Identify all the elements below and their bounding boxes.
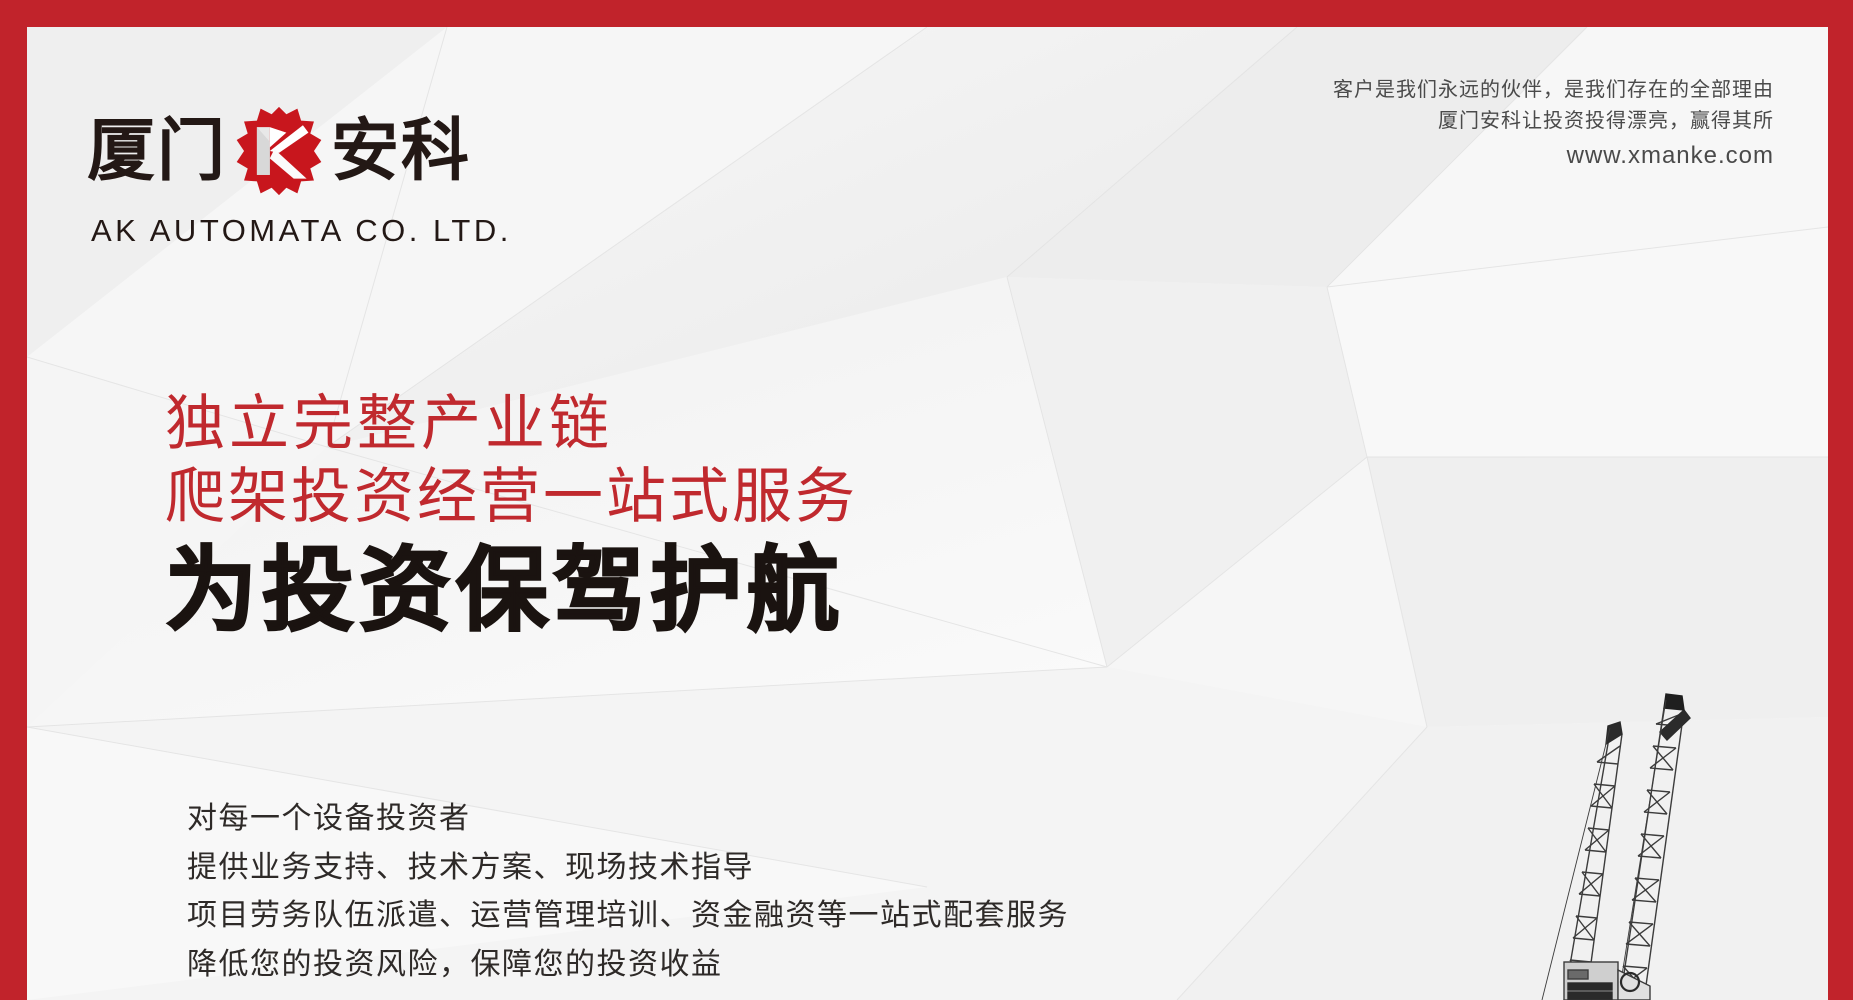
body-line: 对每一个设备投资者: [187, 795, 1069, 844]
frame-left-border: [0, 0, 27, 1000]
k-octagon-logo-icon: [233, 105, 325, 197]
body-line: 降低您的投资风险，保障您的投资收益: [187, 941, 1069, 990]
tagline-line-2: 厦门安科让投资投得漂亮，赢得其所: [1333, 106, 1774, 137]
company-logo: 厦门 安科 AK AUTOMATA CO. LTD.: [87, 105, 512, 249]
headline-red-line-1: 独立完整产业链: [165, 387, 858, 460]
body-line: 项目劳务队伍派遣、运营管理培训、资金融资等一站式配套服务: [187, 892, 1069, 941]
logo-cn-right: 安科: [331, 117, 471, 185]
headline-main: 为投资保驾护航: [165, 539, 858, 645]
body-copy-block: 对每一个设备投资者 提供业务支持、技术方案、现场技术指导 项目劳务队伍派遣、运营…: [187, 795, 1069, 989]
logo-english-name: AK AUTOMATA CO. LTD.: [91, 213, 512, 249]
crawler-crane-illustration: [1468, 670, 1768, 1000]
headline-block: 独立完整产业链 爬架投资经营一站式服务 为投资保驾护航: [165, 387, 858, 645]
website-url[interactable]: www.xmanke.com: [1333, 139, 1774, 174]
frame-right-border: [1828, 0, 1853, 1000]
logo-cn-left: 厦门: [87, 117, 227, 185]
tagline-block: 客户是我们永远的伙伴，是我们存在的全部理由 厦门安科让投资投得漂亮，赢得其所 w…: [1333, 75, 1774, 174]
tagline-line-1: 客户是我们永远的伙伴，是我们存在的全部理由: [1333, 75, 1774, 106]
headline-red-line-2: 爬架投资经营一站式服务: [165, 460, 858, 533]
body-line: 提供业务支持、技术方案、现场技术指导: [187, 844, 1069, 893]
poster-canvas: 厦门 安科 AK AUTOMATA CO. LTD. 客户是我们永远的伙伴，是: [27, 27, 1828, 1000]
poster-root: 厦门 安科 AK AUTOMATA CO. LTD. 客户是我们永远的伙伴，是: [0, 0, 1853, 1000]
logo-row: 厦门 安科: [87, 105, 512, 197]
frame-top-border: [0, 0, 1853, 27]
